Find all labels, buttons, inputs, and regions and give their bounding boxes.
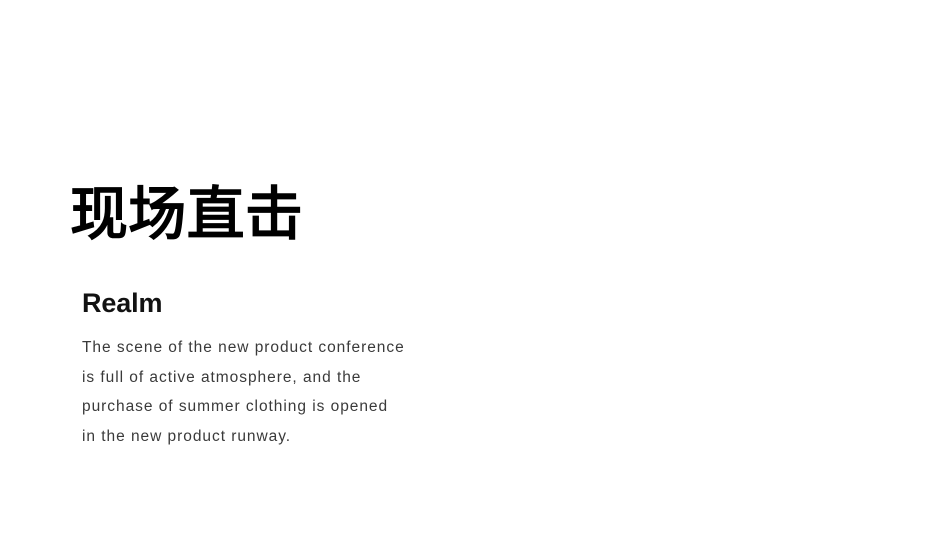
body-line: The scene of the new product conference: [82, 333, 492, 363]
body-line: in the new product runway.: [82, 422, 492, 452]
body-line: is full of active atmosphere, and the: [82, 363, 492, 393]
body-copy: The scene of the new product conference …: [82, 317, 492, 451]
page-title: 现场直击: [70, 186, 630, 244]
slide-canvas: 现场直击 Realm The scene of the new product …: [0, 0, 950, 550]
body-line: purchase of summer clothing is opened: [82, 392, 492, 422]
content-block: 现场直击 Realm The scene of the new product …: [70, 186, 630, 451]
text-block: Realm The scene of the new product confe…: [70, 290, 630, 451]
subheading: Realm: [82, 290, 630, 317]
